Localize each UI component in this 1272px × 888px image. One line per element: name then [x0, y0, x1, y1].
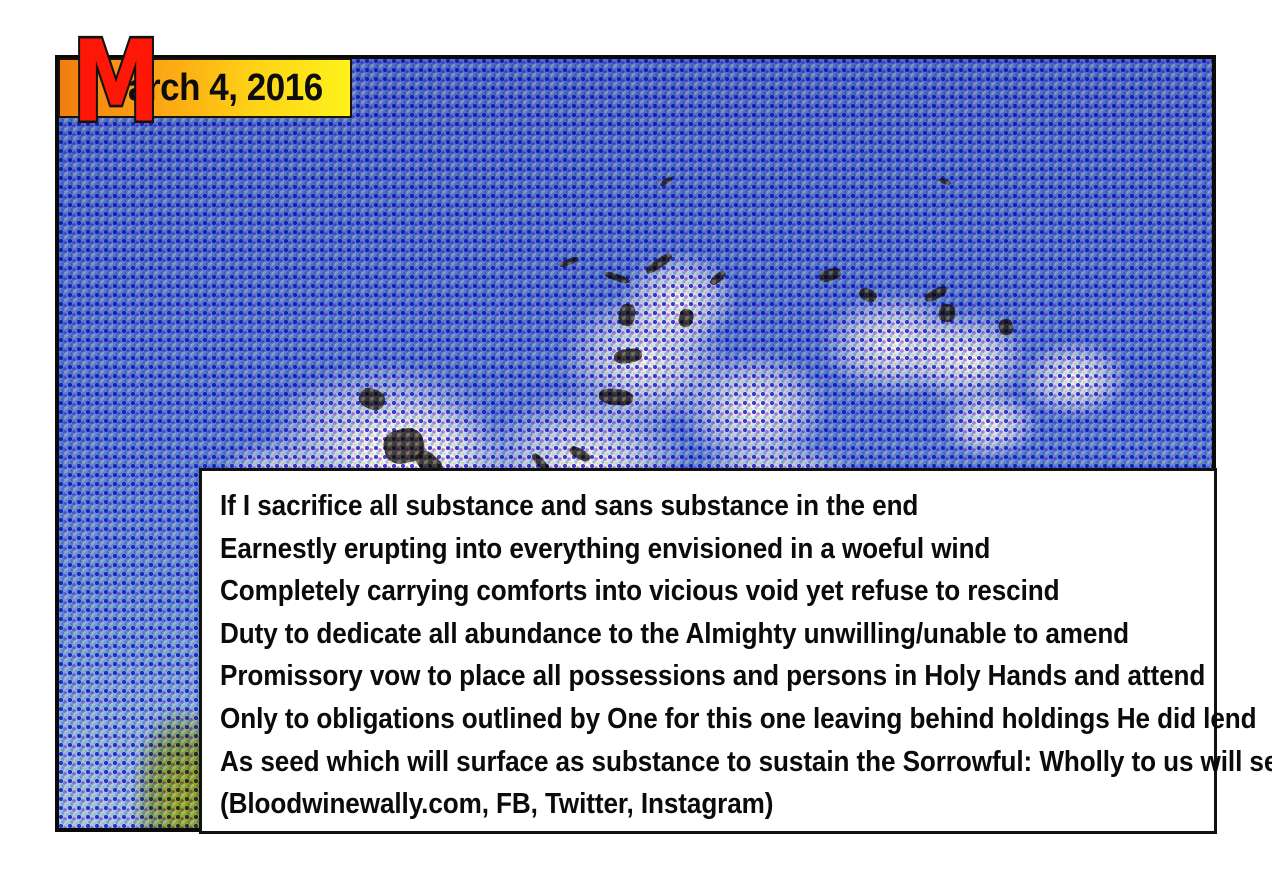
poem-line: Only to obligations outlined by One for …	[220, 698, 1115, 741]
poem-line: Duty to dedicate all abundance to the Al…	[220, 613, 1115, 656]
date-drop-cap: M	[72, 34, 160, 132]
poem-line: If I sacrifice all substance and sans su…	[220, 485, 1115, 528]
poem-line: Completely carrying comforts into viciou…	[220, 570, 1115, 613]
poster-canvas: arch 4, 2016 M If I sacrifice all substa…	[0, 0, 1272, 888]
poem-line: Promissory vow to place all possessions …	[220, 655, 1115, 698]
poem-credits-line: (Bloodwinewally.com, FB, Twitter, Instag…	[220, 783, 1115, 826]
caption-box: If I sacrifice all substance and sans su…	[199, 468, 1217, 834]
poem-line: As seed which will surface as substance …	[220, 741, 1115, 784]
poem-line: Earnestly erupting into everything envis…	[220, 528, 1115, 571]
